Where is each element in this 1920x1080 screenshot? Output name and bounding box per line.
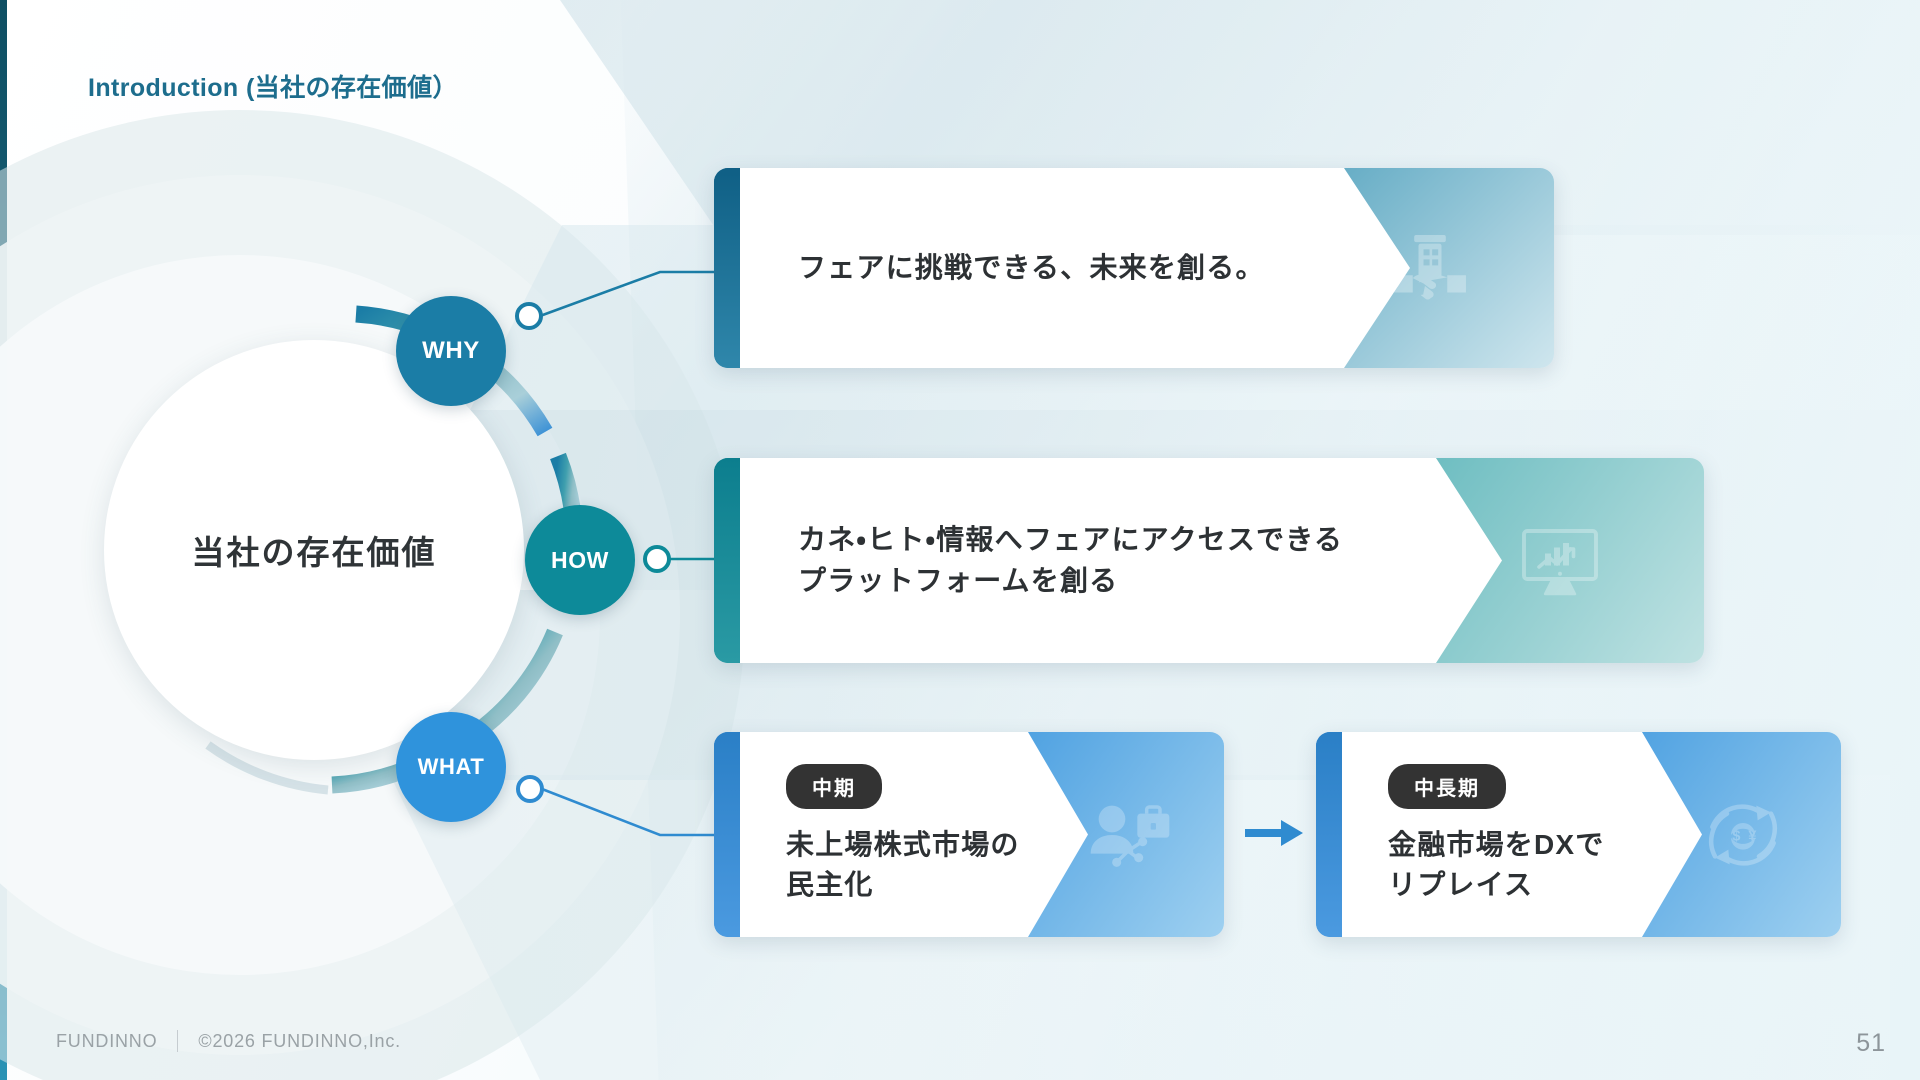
card-why-text: フェアに挑戦できる、未来を創る。 (798, 248, 1400, 289)
left-edge-accent (0, 0, 7, 1080)
card-what-1-panel: 中期 未上場株式市場の 民主化 (740, 732, 1088, 937)
page-title: Introduction (当社の存在価値） (88, 68, 458, 104)
svg-text:¥: ¥ (1748, 828, 1757, 844)
people-briefcase-icon (1084, 792, 1180, 878)
footer-copyright: ©2026 FUNDINNO,Inc. (198, 1031, 401, 1052)
card-how-accent-stripe (714, 458, 740, 663)
card-how-text: カネ・ヒト・情報へフェアにアクセスできる プラットフォームを創る (798, 520, 1492, 601)
card-what-mid-term[interactable]: 中期 未上場株式市場の 民主化 (714, 732, 1224, 937)
card-what-2-panel: 中長期 金融市場をDXで リプレイス (1342, 732, 1702, 937)
badge-mid-term: 中期 (786, 764, 882, 809)
card-what-2-text: 金融市場をDXで リプレイス (1388, 825, 1692, 905)
arrow-right-icon (1243, 812, 1305, 854)
card-what-1-text: 未上場株式市場の 民主化 (786, 825, 1078, 905)
footer-brand: FUNDINNO (56, 1031, 157, 1052)
node-what[interactable]: WHAT (396, 712, 506, 822)
node-what-label: WHAT (418, 754, 485, 780)
node-how-label: HOW (551, 547, 609, 574)
card-why-accent-stripe (714, 168, 740, 368)
node-why-label: WHY (422, 337, 480, 365)
card-how-panel: カネ・ヒト・情報へフェアにアクセスできる プラットフォームを創る (740, 458, 1502, 663)
slide-canvas: Introduction (当社の存在価値） (0, 0, 1920, 1080)
currency-exchange-icon: $ ¥ (1693, 787, 1793, 883)
monitor-chart-icon (1512, 513, 1608, 609)
node-why[interactable]: WHY (396, 296, 506, 406)
card-why-panel: フェアに挑戦できる、未来を創る。 (740, 168, 1410, 368)
center-label: 当社の存在価値 (192, 526, 437, 574)
page-number: 51 (1856, 1029, 1886, 1058)
card-how[interactable]: カネ・ヒト・情報へフェアにアクセスできる プラットフォームを創る (714, 458, 1704, 663)
badge-long-term: 中長期 (1388, 764, 1506, 809)
footer-divider (177, 1030, 178, 1052)
svg-text:$: $ (1732, 828, 1740, 844)
footer: FUNDINNO ©2026 FUNDINNO,Inc. (56, 1030, 401, 1052)
node-how[interactable]: HOW (525, 505, 635, 615)
card-what-1-accent-stripe (714, 732, 740, 937)
card-why[interactable]: フェアに挑戦できる、未来を創る。 (714, 168, 1554, 368)
card-what-long-term[interactable]: $ ¥ 中長期 金融市場をDXで リプレイス (1316, 732, 1841, 937)
connector-how (645, 547, 714, 571)
card-what-2-accent-stripe (1316, 732, 1342, 937)
